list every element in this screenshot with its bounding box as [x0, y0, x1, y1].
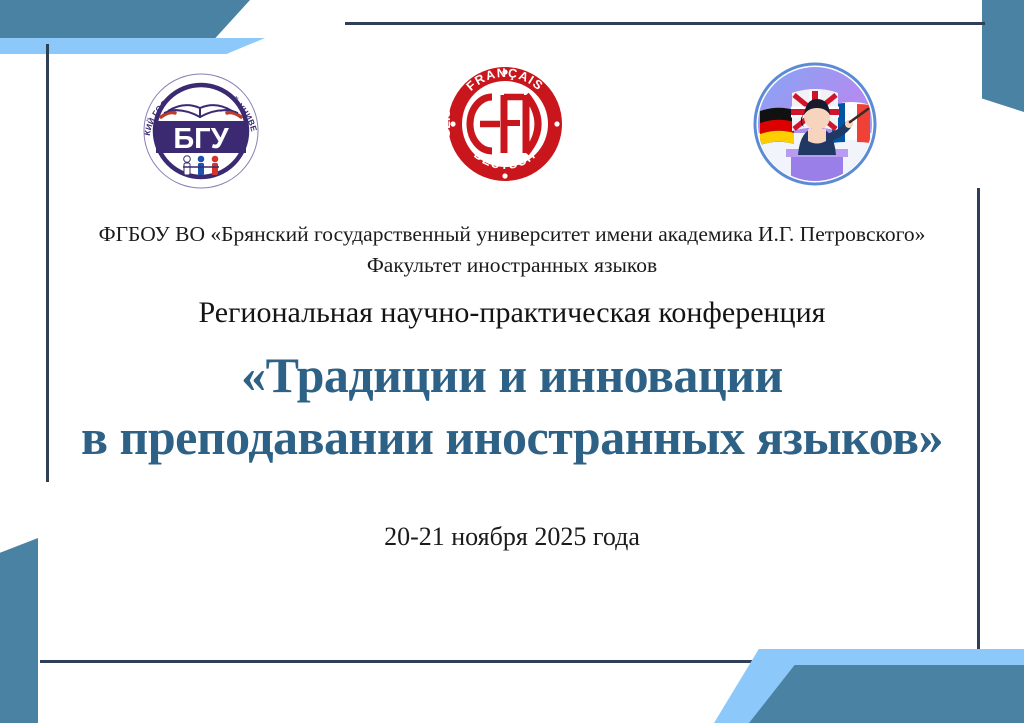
efd-arc-left-text: ENGLISH	[440, 100, 453, 156]
conference-poster: БРЯНСКИЙ ГОСУДАРСТВЕННЫЙ УНИВЕРСИТЕТ име…	[0, 0, 1024, 723]
corner-decoration-bottom-left	[0, 538, 38, 723]
conference-title: «Традиции и инновации в преподавании ино…	[0, 344, 1024, 468]
bgu-abbreviation: БГУ	[173, 123, 229, 155]
rule-top	[345, 22, 985, 25]
conference-dates: 20-21 ноября 2025 года	[0, 522, 1024, 552]
organization-line-2: Факультет иностранных языков	[0, 250, 1024, 281]
corner-decoration-bottom-right-dark	[749, 665, 1024, 723]
bgu-figures-icon	[183, 156, 219, 175]
efd-logo: FRANÇAIS DEUTSCH ENGLISH	[440, 59, 570, 189]
conference-title-line-2: в преподавании иностранных языков»	[0, 406, 1024, 468]
flag-germany-icon	[760, 108, 794, 145]
corner-decoration-top-left-light	[0, 38, 265, 54]
organization-block: ФГБОУ ВО «Брянский государственный униве…	[0, 219, 1024, 281]
efd-monogram	[470, 95, 538, 153]
organization-line-1: ФГБОУ ВО «Брянский государственный униве…	[0, 219, 1024, 250]
teacher-logo	[750, 59, 880, 189]
conference-type: Региональная научно-практическая конфере…	[0, 296, 1024, 330]
corner-decoration-top-left-dark	[0, 0, 250, 40]
logo-row: БРЯНСКИЙ ГОСУДАРСТВЕННЫЙ УНИВЕРСИТЕТ име…	[0, 55, 1024, 197]
bgu-logo: БРЯНСКИЙ ГОСУДАРСТВЕННЫЙ УНИВЕРСИТЕТ име…	[128, 55, 274, 197]
conference-title-line-1: «Традиции и инновации	[0, 344, 1024, 406]
